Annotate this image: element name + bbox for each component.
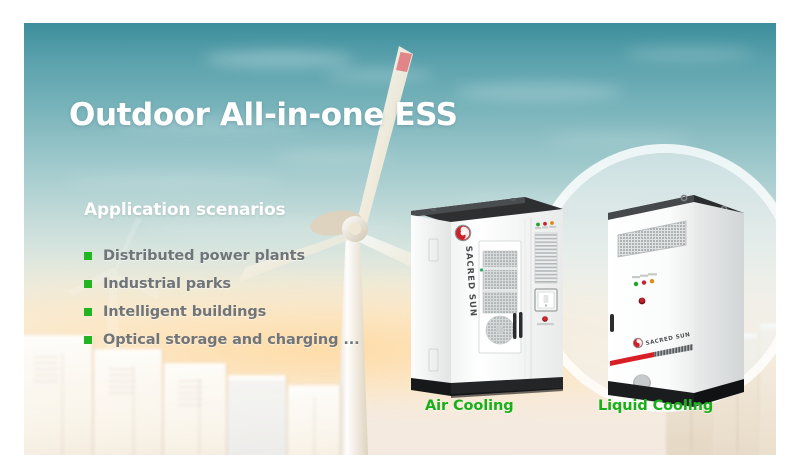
sacred-sun-logo-icon	[633, 338, 643, 348]
scenario-label: Industrial parks	[103, 276, 231, 292]
control-display-panel	[535, 289, 557, 311]
liquid-cooling-cabinet: SACRED SUN	[602, 183, 750, 411]
cloud	[624, 47, 754, 61]
door-handle	[519, 312, 523, 338]
list-item: Intelligent buildings	[84, 299, 360, 324]
list-item: Optical storage and charging ...	[84, 327, 360, 352]
bullet-square-icon	[84, 252, 92, 260]
cloud	[144, 219, 404, 237]
background-container	[288, 385, 340, 455]
door-handle	[610, 314, 614, 332]
section-heading: Application scenarios	[84, 200, 285, 220]
list-item: Distributed power plants	[84, 243, 360, 268]
background-container	[228, 375, 286, 455]
slide-canvas: SACRED SUN	[0, 0, 800, 469]
caption-air-cooling: Air Cooling	[425, 398, 514, 414]
bullet-square-icon	[84, 280, 92, 288]
background-container	[24, 335, 92, 455]
page-title: Outdoor All-in-one ESS	[69, 97, 458, 133]
cloud	[64, 173, 284, 189]
cloud	[454, 83, 624, 101]
scenario-label: Distributed power plants	[103, 248, 305, 264]
caption-liquid-cooling: Liquid Cooling	[598, 398, 713, 414]
background-container	[164, 363, 226, 455]
air-cooling-cabinet: SACRED SUN	[407, 191, 567, 406]
list-item: Industrial parks	[84, 271, 360, 296]
background-container	[94, 349, 162, 455]
sacred-sun-logo-icon	[455, 225, 471, 241]
scenario-label: Optical storage and charging ...	[103, 332, 360, 348]
scenario-label: Intelligent buildings	[103, 304, 266, 320]
cloud	[274, 151, 394, 162]
cloud	[204, 51, 354, 67]
bullet-square-icon	[84, 308, 92, 316]
scenario-list: Distributed power plants Industrial park…	[84, 243, 360, 355]
cloud	[324, 69, 434, 81]
bullet-square-icon	[84, 336, 92, 344]
banner-image: SACRED SUN	[24, 23, 776, 455]
door-handle	[513, 313, 517, 339]
emergency-stop-button	[639, 298, 646, 305]
